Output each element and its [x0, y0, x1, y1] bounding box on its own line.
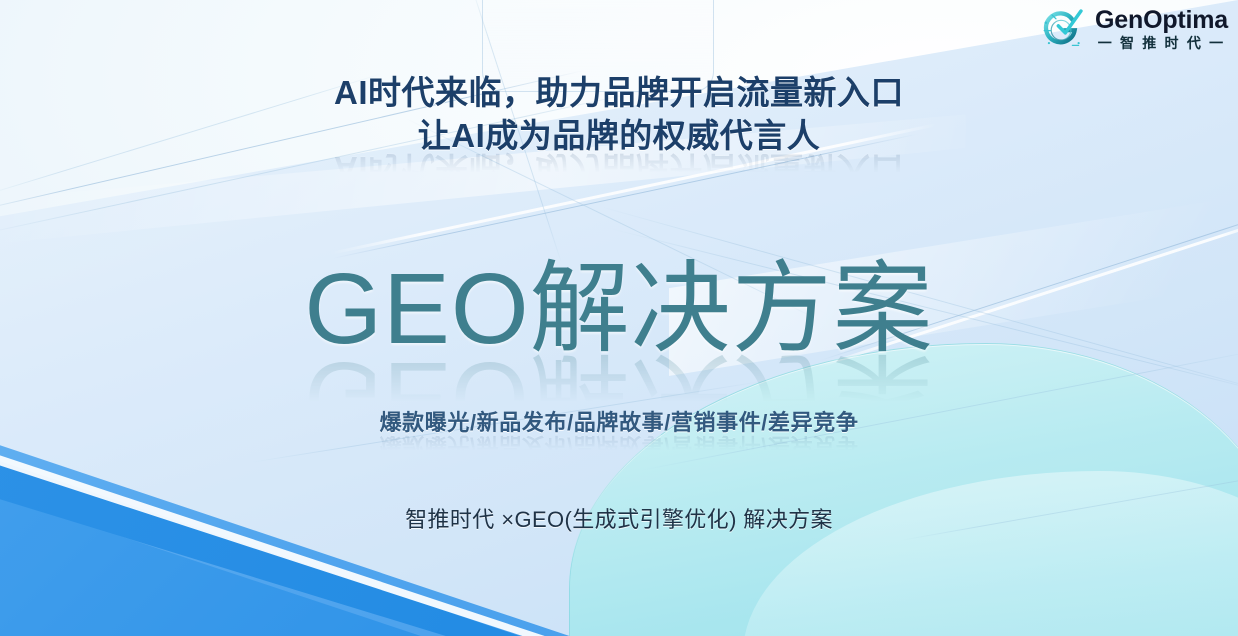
slide-footer-line: 智推时代 ×GEO(生成式引擎优化) 解决方案 — [0, 502, 1238, 534]
slide-content: AI时代来临，助力品牌开启流量新入口 让AI成为品牌的权威代言人 AI时代来临，… — [0, 0, 1238, 636]
presentation-slide: GenOptima 一 智 推 时 代 一 AI时代来临，助力品牌开启流量新入口… — [0, 0, 1238, 636]
slide-subtitle: 爆款曝光/新品发布/品牌故事/营销事件/差异竞争 爆款曝光/新品发布/品牌故事/… — [0, 405, 1238, 463]
headline-line-1: AI时代来临，助力品牌开启流量新入口 — [0, 72, 1238, 115]
page-title: GEO解决方案 — [0, 258, 1238, 360]
headline-line-2: 让AI成为品牌的权威代言人 — [0, 115, 1238, 158]
subtitle-reflection: 爆款曝光/新品发布/品牌故事/营销事件/差异竞争 — [0, 431, 1238, 463]
slide-headline: AI时代来临，助力品牌开启流量新入口 让AI成为品牌的权威代言人 AI时代来临，… — [0, 72, 1238, 189]
